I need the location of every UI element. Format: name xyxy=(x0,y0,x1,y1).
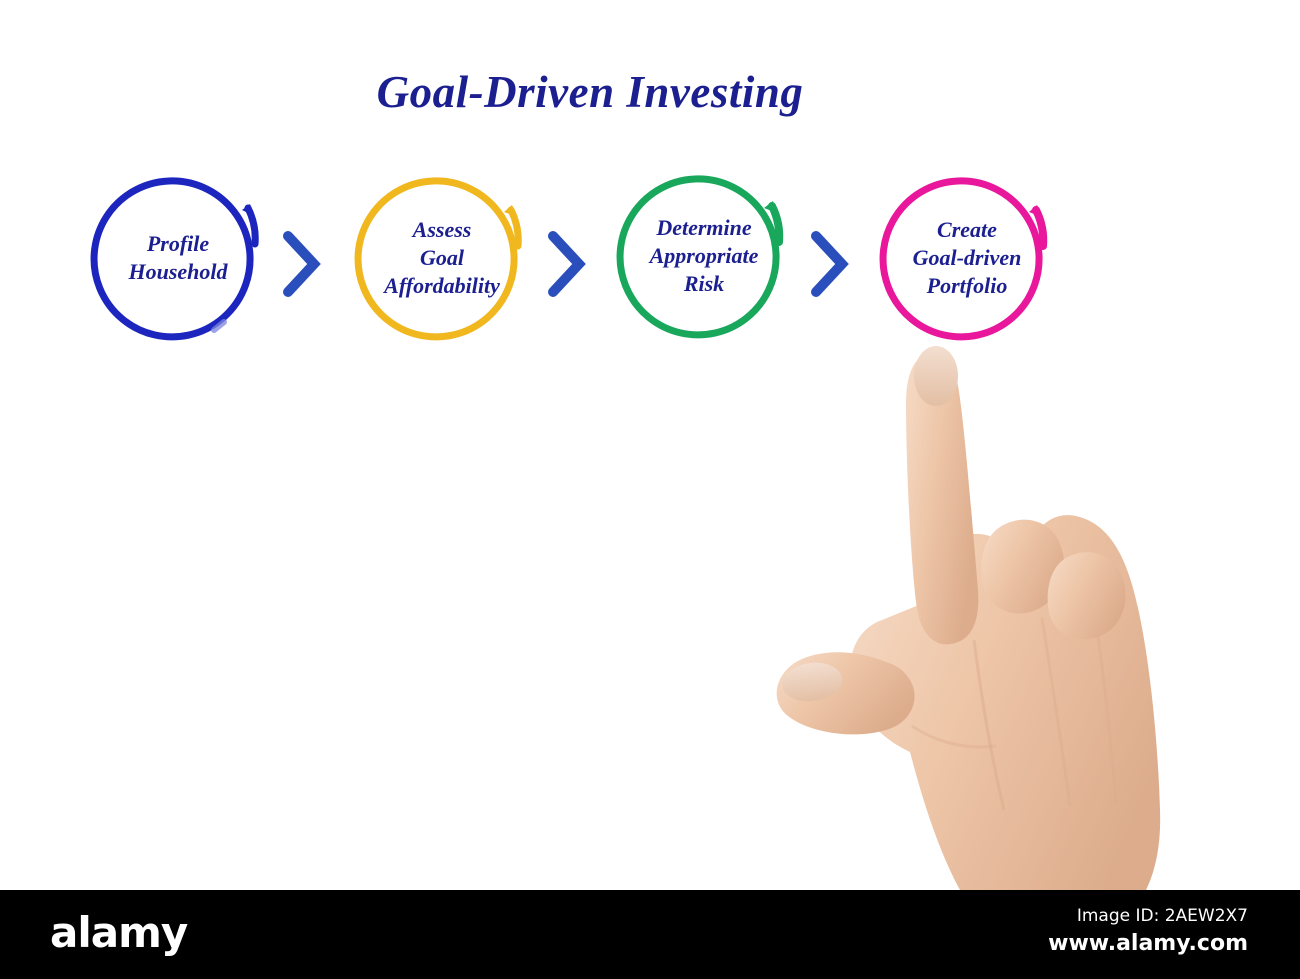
alamy-logo: alamy xyxy=(50,908,187,957)
connector-chevron-2 xyxy=(543,228,589,300)
step-node-assess-goal-affordability[interactable]: Assess Goal Affordability xyxy=(354,170,530,346)
chevron-right-icon xyxy=(543,228,589,300)
circle-arrow-icon-yellow xyxy=(354,170,530,346)
connector-chevron-1 xyxy=(278,228,324,300)
circle-arrow-icon-blue xyxy=(90,170,266,346)
hand-pointing-index-finger-icon xyxy=(760,290,1180,910)
website-url-label: www.alamy.com xyxy=(1048,931,1248,956)
step-node-profile-household[interactable]: Profile Household xyxy=(90,170,266,346)
pointing-hand-image xyxy=(760,290,1180,910)
chevron-right-icon xyxy=(278,228,324,300)
screenshot-canvas: Goal-Driven Investing Profile Household xyxy=(0,0,1300,979)
image-id-label: Image ID: 2AEW2X7 xyxy=(1077,906,1248,926)
